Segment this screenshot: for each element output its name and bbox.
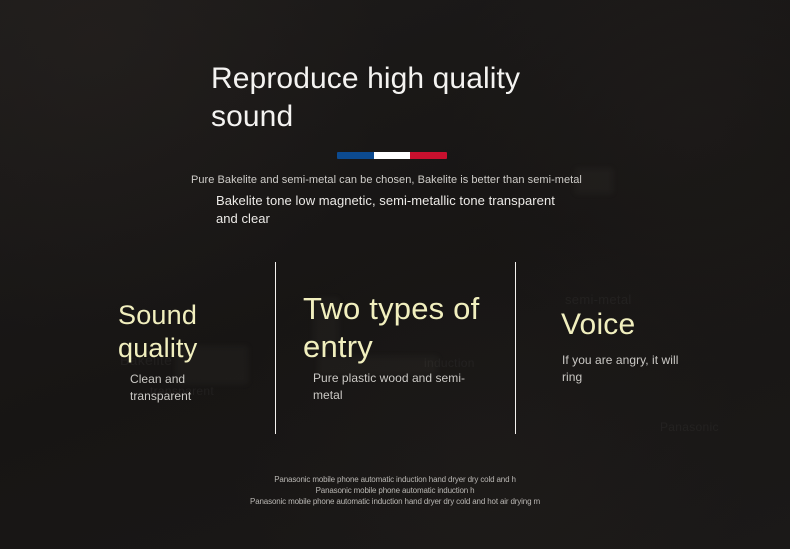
accent-bar-segment-blue <box>337 152 374 159</box>
promo-banner: semi-metal Bakelite induction transparen… <box>0 0 790 549</box>
footer-line: Panasonic mobile phone automatic inducti… <box>0 496 790 507</box>
feature-description: Clean and transparent <box>130 371 240 405</box>
column-divider-left <box>275 262 276 434</box>
feature-title: Two types of entry <box>303 290 508 366</box>
hero-subtitle-large: Bakelite tone low magnetic, semi-metalli… <box>216 192 576 228</box>
footer: Panasonic mobile phone automatic inducti… <box>0 474 790 507</box>
feature-description: Pure plastic wood and semi-metal <box>313 370 488 404</box>
feature-column-voice: Voice If you are angry, it will ring <box>561 307 741 386</box>
background-ghost-text-5: Panasonic <box>660 420 719 434</box>
tricolor-accent-bar <box>337 152 447 159</box>
footer-line: Panasonic mobile phone automatic inducti… <box>0 485 790 496</box>
footer-line: Panasonic mobile phone automatic inducti… <box>0 474 790 485</box>
accent-bar-segment-red <box>410 152 447 159</box>
page-title: Reproduce high quality sound <box>211 60 541 136</box>
background-ghost-text-1: semi-metal <box>565 292 632 307</box>
feature-column-sound-quality: Sound quality Clean and transparent <box>118 299 268 405</box>
hero-subtitle-small: Pure Bakelite and semi-metal can be chos… <box>191 173 582 188</box>
feature-title: Sound quality <box>118 299 268 365</box>
feature-title: Voice <box>561 307 741 343</box>
feature-column-two-types-of-entry: Two types of entry Pure plastic wood and… <box>303 290 508 404</box>
accent-bar-segment-white <box>374 152 411 159</box>
feature-description: If you are angry, it will ring <box>562 352 692 386</box>
column-divider-right <box>515 262 516 434</box>
